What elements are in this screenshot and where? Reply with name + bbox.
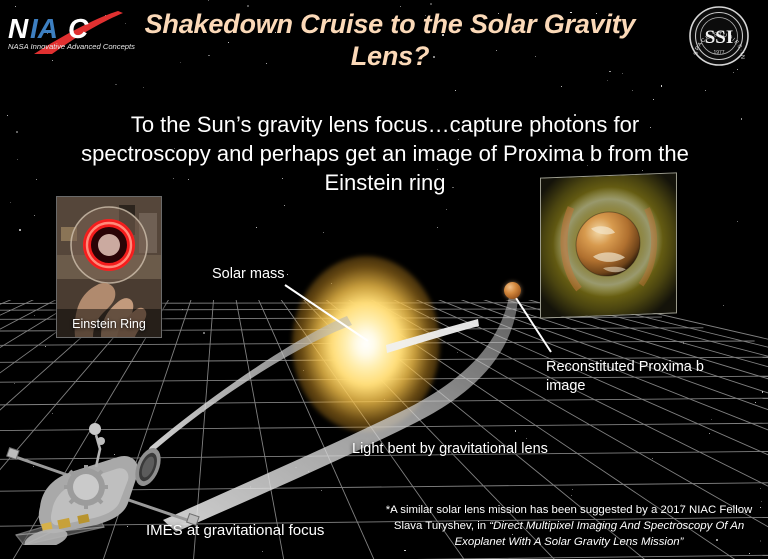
- niac-acronym-c: C: [68, 13, 89, 44]
- footnote: *A similar solar lens mission has been s…: [376, 503, 762, 551]
- niac-acronym-ia: IA: [30, 13, 58, 44]
- einstein-ring-panel: Einstein Ring: [56, 196, 162, 338]
- label-imes-focus: IMES at gravitational focus: [146, 521, 324, 540]
- footnote-paper-title: “Direct Multipixel Imaging And Spectrosc…: [455, 520, 745, 548]
- proxima-b-planet-dot: [504, 282, 521, 299]
- label-reconstituted-proxima-b: Reconstituted Proxima b image: [546, 358, 736, 395]
- label-light-bent: Light bent by gravitational lens: [352, 440, 548, 459]
- niac-acronym-n: N: [8, 13, 29, 44]
- label-solar-mass: Solar mass: [212, 265, 285, 284]
- page-title: Shakedown Cruise to the Solar Gravity Le…: [135, 8, 645, 73]
- einstein-ring-caption: Einstein Ring: [57, 311, 161, 337]
- ssi-monogram: SSI: [705, 27, 734, 48]
- slide-canvas: N IA C NASA Innovative Advanced Concepts…: [0, 0, 768, 559]
- proxima-b-reconstituted-image: [541, 173, 676, 317]
- ssi-year: 1977: [713, 50, 724, 56]
- niac-logo: N IA C NASA Innovative Advanced Concepts: [6, 10, 136, 54]
- sun-glow: [292, 256, 440, 432]
- proxima-b-image-panel: [540, 172, 677, 318]
- niac-tagline: NASA Innovative Advanced Concepts: [8, 42, 135, 51]
- radiator-ring: [64, 465, 108, 509]
- antenna-mast: [89, 423, 105, 467]
- ssi-logo: SPACE·STUDIES·INSTITUTE SSI 1977: [689, 6, 749, 66]
